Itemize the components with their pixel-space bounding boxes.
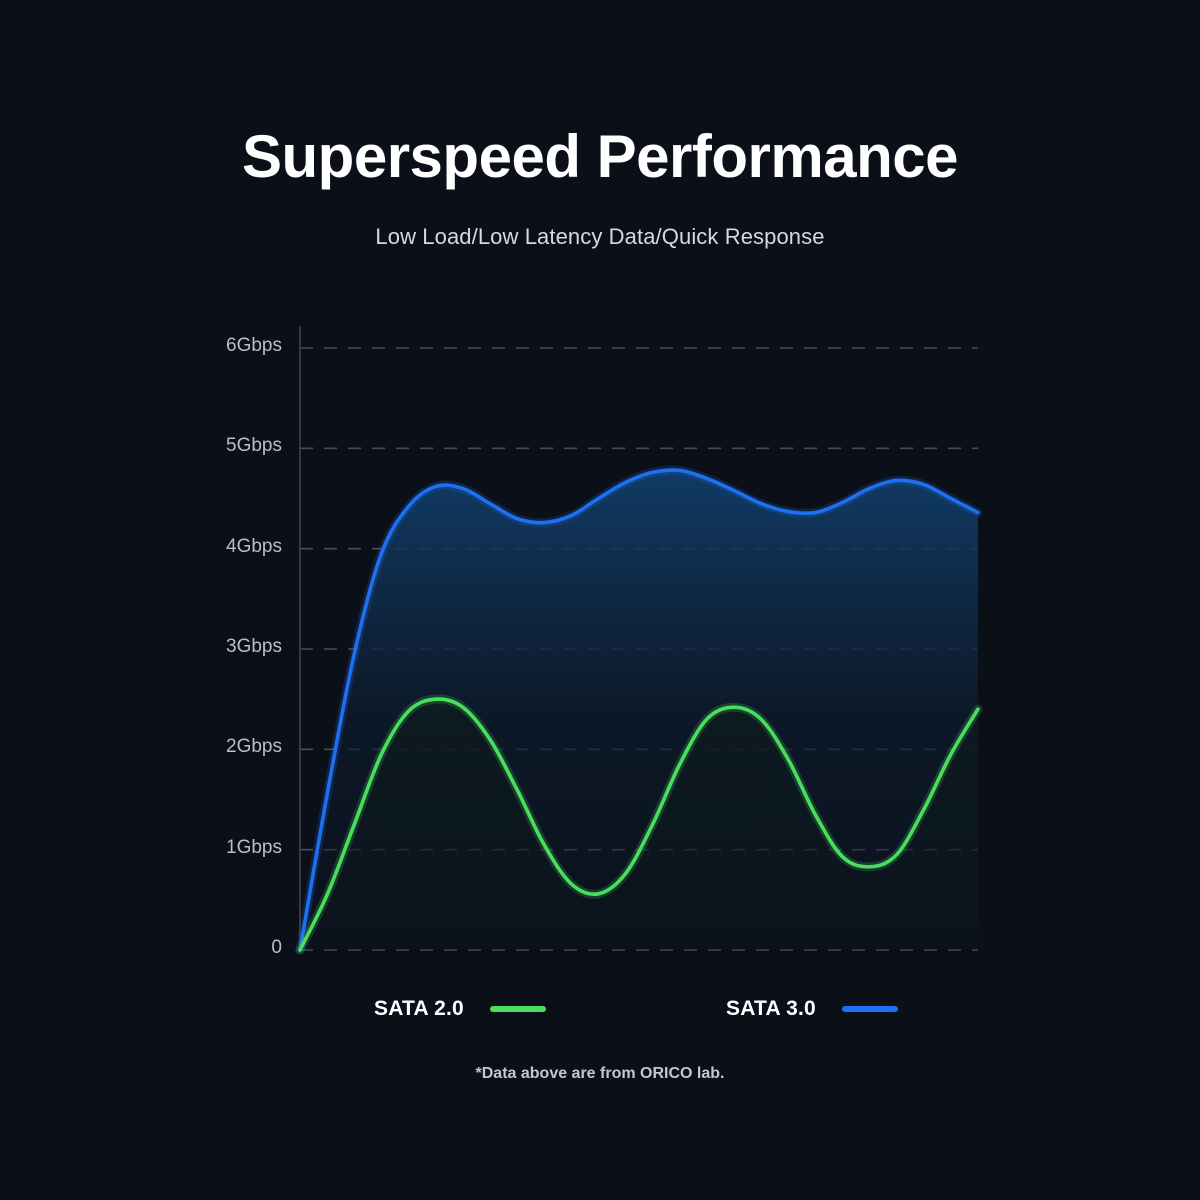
- y-tick-3gbps: 3Gbps: [122, 636, 282, 658]
- y-tick-1gbps: 1Gbps: [122, 837, 282, 859]
- legend-label: SATA 3.0: [726, 997, 816, 1021]
- legend-label: SATA 2.0: [374, 997, 464, 1021]
- y-tick-0: 0: [122, 937, 282, 959]
- y-tick-6gbps: 6Gbps: [122, 335, 282, 357]
- legend-item-sata-3-0[interactable]: SATA 3.0: [726, 992, 898, 1026]
- legend-item-sata-2-0[interactable]: SATA 2.0: [374, 992, 546, 1026]
- chart-legend: SATA 2.0SATA 3.0: [0, 992, 1200, 1026]
- legend-swatch: [490, 1006, 546, 1012]
- y-tick-5gbps: 5Gbps: [122, 435, 282, 457]
- y-tick-2gbps: 2Gbps: [122, 736, 282, 758]
- chart-footnote: *Data above are from ORICO lab.: [0, 1065, 1200, 1083]
- y-tick-4gbps: 4Gbps: [122, 536, 282, 558]
- legend-swatch: [842, 1006, 898, 1012]
- infographic-page: Superspeed Performance Low Load/Low Late…: [0, 0, 1200, 1200]
